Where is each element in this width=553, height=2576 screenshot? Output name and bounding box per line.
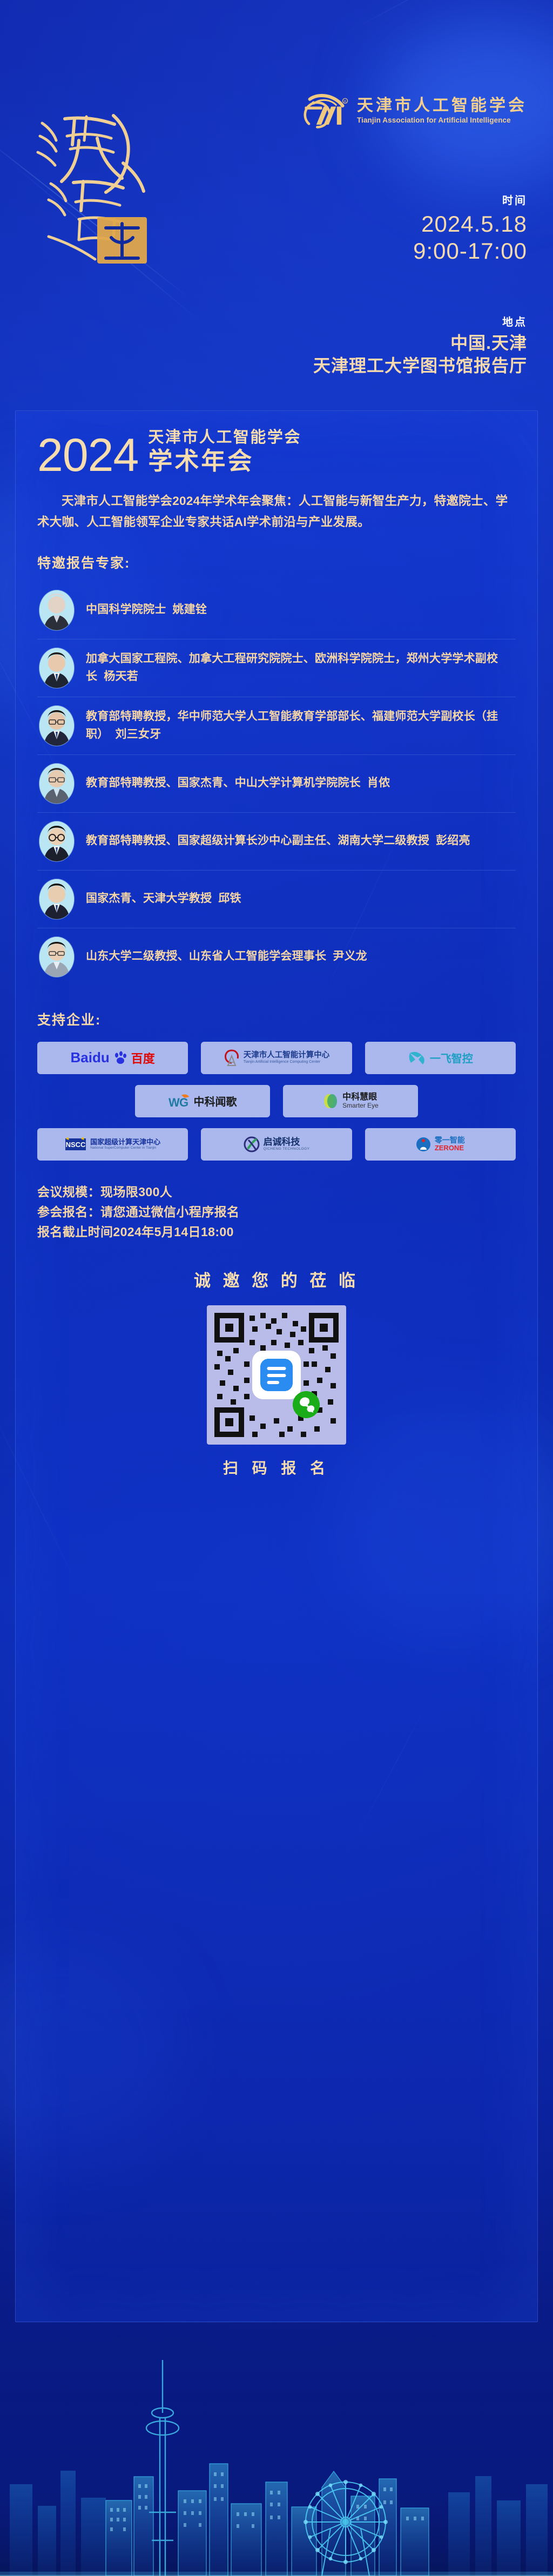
speaker-info: 中国科学院院士 姚建铨 bbox=[86, 601, 207, 619]
sponsor-tile-zerone[interactable]: 零一智能 ZERONE bbox=[365, 1128, 516, 1161]
smartereye-logo-icon bbox=[322, 1093, 339, 1110]
speaker-affiliation: 国家杰青、天津大学教授 bbox=[86, 892, 212, 905]
sponsor-name-cn: 零一智能 bbox=[435, 1136, 465, 1144]
speakers-section-heading: 特邀报告专家: bbox=[37, 552, 516, 572]
sponsor-grid: Baidu 百度 bbox=[37, 1042, 516, 1161]
speaker-avatar-icon bbox=[39, 879, 74, 919]
nscc-logo-icon: NSCC bbox=[65, 1136, 86, 1153]
speaker-avatar-icon bbox=[39, 590, 74, 630]
calligraphy-invitation-icon bbox=[32, 103, 189, 270]
sponsor-name-cn: 天津市人工智能计算中心 bbox=[244, 1051, 330, 1060]
content-card: 2024 天津市人工智能学会 学术年会 天津市人工智能学会2024年学术年会聚焦… bbox=[15, 410, 538, 2322]
event-title-year: 2024 bbox=[37, 434, 138, 477]
sponsor-row: Baidu 百度 bbox=[37, 1042, 516, 1074]
speaker-row: 中国科学院院士 姚建铨 bbox=[37, 582, 516, 639]
event-time-range: 9:00-17:00 bbox=[413, 238, 527, 265]
sponsor-name-en: Smarter Eye bbox=[342, 1102, 379, 1110]
sponsor-name-cn: 百度 bbox=[131, 1049, 155, 1067]
speaker-avatar-icon bbox=[39, 764, 74, 804]
speaker-affiliation: 中国科学院院士 bbox=[86, 603, 166, 616]
speaker-name: 尹义龙 bbox=[333, 950, 367, 962]
speaker-affiliation: 教育部特聘教授、国家超级计算长沙中心副主任、湖南大学二级教授 bbox=[86, 834, 429, 847]
speaker-avatar-icon bbox=[39, 706, 74, 746]
event-date: 2024.5.18 bbox=[413, 211, 527, 238]
calligraphy-han-char bbox=[97, 217, 147, 264]
baidu-paw-icon bbox=[113, 1051, 127, 1065]
association-name-en: Tianjin Association for Artificial Intel… bbox=[357, 116, 527, 124]
speakers-list: 中国科学院院士 姚建铨 加拿大国家工程院、加拿大工程研究院院士、欧洲科学院院士，… bbox=[37, 582, 516, 986]
conference-registration: 参会报名：请您通过微信小程序报名 bbox=[37, 1202, 516, 1222]
sponsor-name-cn: 中科闻歌 bbox=[194, 1093, 237, 1109]
invite-headline: 诚 邀 您 的 莅 临 bbox=[37, 1267, 516, 1291]
yifei-logo-icon bbox=[408, 1050, 426, 1066]
speaker-name: 肖侬 bbox=[367, 777, 390, 789]
taai-logo-icon: R bbox=[300, 92, 349, 130]
scan-to-register-label: 扫 码 报 名 bbox=[37, 1456, 516, 1494]
sponsor-name-en: QICHENG TECHNOLOGY bbox=[264, 1147, 310, 1151]
sponsor-tile-taicc[interactable]: 天津市人工智能计算中心 Tianjin Artificial Intellige… bbox=[201, 1042, 352, 1074]
sponsor-name-en: National SuperComputer Center in Tianjin bbox=[90, 1146, 160, 1150]
speaker-name: 刘三女牙 bbox=[115, 728, 161, 740]
speaker-info: 山东大学二级教授、山东省人工智能学会理事长 尹义龙 bbox=[86, 948, 367, 966]
taicc-logo-icon bbox=[224, 1049, 240, 1067]
speaker-avatar-icon bbox=[39, 648, 74, 688]
svg-text:W: W bbox=[168, 1096, 180, 1109]
sponsor-name-cn: 中科慧眼 bbox=[342, 1093, 379, 1102]
sponsor-tile-qicheng[interactable]: 启诚科技 QICHENG TECHNOLOGY bbox=[201, 1128, 352, 1161]
poster-header: R 天津市人工智能学会 Tianjin Association for Arti… bbox=[0, 0, 553, 367]
event-title: 2024 天津市人工智能学会 学术年会 bbox=[37, 429, 516, 477]
place-label: 地点 bbox=[313, 313, 527, 329]
speaker-info: 教育部特聘教授、国家杰青、中山大学计算机学院院长 肖侬 bbox=[86, 774, 390, 792]
event-title-line2: 学术年会 bbox=[148, 448, 301, 475]
speaker-info: 加拿大国家工程院、加拿大工程研究院院士、欧洲科学院院士，郑州大学学术副校长 杨天… bbox=[86, 650, 514, 685]
poster-root: R 天津市人工智能学会 Tianjin Association for Arti… bbox=[0, 0, 553, 2576]
association-logo: R 天津市人工智能学会 Tianjin Association for Arti… bbox=[300, 92, 527, 130]
sponsor-tile-yifei[interactable]: 一飞智控 bbox=[365, 1042, 516, 1074]
tianjin-city-skyline-icon bbox=[0, 2322, 553, 2576]
conference-deadline: 报名截止时间2024年5月14日18:00 bbox=[37, 1222, 516, 1242]
zerone-logo-icon bbox=[416, 1136, 431, 1153]
speaker-affiliation: 加拿大国家工程院、加拿大工程研究院院士、欧洲科学院院士，郑州大学学术副校长 bbox=[86, 652, 498, 683]
sponsor-name-cn: 启诚科技 bbox=[264, 1137, 310, 1148]
place-block: 地点 中国.天津 天津理工大学图书馆报告厅 bbox=[313, 313, 527, 377]
sponsor-tile-nscc[interactable]: NSCC 国家超级计算天津中心 National SuperComputer C… bbox=[37, 1128, 188, 1161]
speaker-row: 国家杰青、天津大学教授 邱铁 bbox=[37, 871, 516, 928]
speaker-name: 杨天若 bbox=[104, 670, 138, 683]
sponsor-name-cn: 国家超级计算天津中心 bbox=[90, 1138, 160, 1146]
speaker-avatar-icon bbox=[39, 821, 74, 861]
event-title-line1: 天津市人工智能学会 bbox=[148, 429, 301, 447]
speaker-affiliation: 教育部特聘教授、国家杰青、中山大学计算机学院院长 bbox=[86, 777, 361, 789]
speaker-name: 姚建铨 bbox=[172, 603, 207, 616]
baidu-logo-icon: Baidu bbox=[71, 1049, 110, 1066]
wengo-logo-icon: W G bbox=[168, 1093, 190, 1109]
speaker-row: 加拿大国家工程院、加拿大工程研究院院士、欧洲科学院院士，郑州大学学术副校长 杨天… bbox=[37, 639, 516, 697]
speaker-row: 教育部特聘教授、国家杰青、中山大学计算机学院院长 肖侬 bbox=[37, 755, 516, 813]
sponsor-name-en: ZERONE bbox=[435, 1144, 465, 1152]
speaker-row: 山东大学二级教授、山东省人工智能学会理事长 尹义龙 bbox=[37, 928, 516, 986]
speaker-info: 教育部特聘教授、国家超级计算长沙中心副主任、湖南大学二级教授 彭绍亮 bbox=[86, 832, 470, 850]
sponsor-name-cn: 一飞智控 bbox=[430, 1050, 473, 1066]
sponsors-section-heading: 支持企业: bbox=[37, 1009, 516, 1029]
speaker-row: 教育部特聘教授，华中师范大学人工智能教育学部部长、福建师范大学副校长（挂职） 刘… bbox=[37, 697, 516, 755]
sponsor-row: W G 中科闻歌 bbox=[37, 1085, 516, 1117]
sponsor-name-en: Tianjin Artificial Intelligence Computin… bbox=[244, 1060, 330, 1064]
speaker-name: 邱铁 bbox=[218, 892, 241, 905]
speaker-affiliation: 山东大学二级教授、山东省人工智能学会理事长 bbox=[86, 950, 326, 962]
time-block: 时间 2024.5.18 9:00-17:00 bbox=[413, 192, 527, 264]
sponsor-tile-baidu[interactable]: Baidu 百度 bbox=[37, 1042, 188, 1074]
place-city: 中国.天津 bbox=[313, 332, 527, 355]
svg-text:G: G bbox=[179, 1096, 188, 1109]
wechat-miniprogram-qrcode-icon[interactable] bbox=[207, 1305, 346, 1445]
svg-text:NSCC: NSCC bbox=[66, 1141, 86, 1149]
svg-text:R: R bbox=[344, 100, 347, 104]
place-venue: 天津理工大学图书馆报告厅 bbox=[313, 355, 527, 377]
event-description: 天津市人工智能学会2024年学术年会聚焦：人工智能与新智生产力，特邀院士、学术大… bbox=[37, 491, 516, 532]
conference-scale: 会议规模：现场限300人 bbox=[37, 1182, 516, 1202]
speaker-info: 国家杰青、天津大学教授 邱铁 bbox=[86, 890, 241, 908]
speaker-info: 教育部特聘教授，华中师范大学人工智能教育学部部长、福建师范大学副校长（挂职） 刘… bbox=[86, 708, 514, 743]
speaker-avatar-icon bbox=[39, 937, 74, 977]
speaker-name: 彭绍亮 bbox=[436, 834, 470, 847]
sponsor-tile-wengo[interactable]: W G 中科闻歌 bbox=[135, 1085, 270, 1117]
sponsor-row: NSCC 国家超级计算天津中心 National SuperComputer C… bbox=[37, 1128, 516, 1161]
qicheng-logo-icon bbox=[244, 1136, 260, 1153]
speaker-row: 教育部特聘教授、国家超级计算长沙中心副主任、湖南大学二级教授 彭绍亮 bbox=[37, 813, 516, 871]
conference-info: 会议规模：现场限300人 参会报名：请您通过微信小程序报名 报名截止时间2024… bbox=[37, 1182, 516, 1243]
association-name-cn: 天津市人工智能学会 bbox=[357, 97, 527, 114]
sponsor-tile-smartereye[interactable]: 中科慧眼 Smarter Eye bbox=[283, 1085, 418, 1117]
time-label: 时间 bbox=[413, 192, 527, 207]
